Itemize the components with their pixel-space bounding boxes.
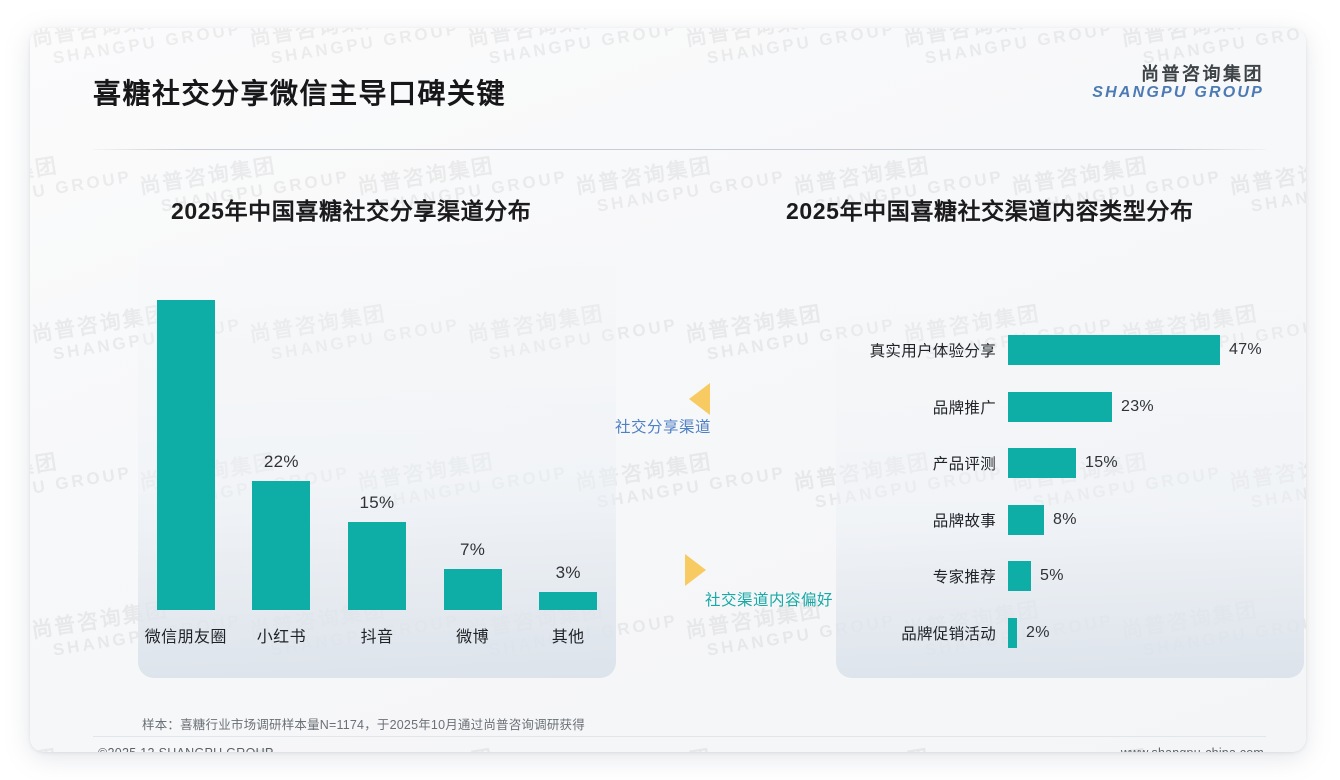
footer-copyright: ©2025.12 SHANGPU GROUP <box>98 746 274 752</box>
horizontal-bar-value-label: 23% <box>1112 398 1154 416</box>
vertical-bar-value-label: 15% <box>360 493 395 513</box>
horizontal-bar <box>1008 335 1220 365</box>
watermark-text: 尚普咨询集团SHANGPU GROUP <box>792 735 1005 752</box>
vertical-bar-series: 53%22%15%7%3% <box>138 268 616 610</box>
vertical-bar <box>348 522 406 610</box>
horizontal-bar-category-label: 专家推荐 <box>836 565 1008 587</box>
vertical-bar <box>539 592 597 610</box>
chart-title-left: 2025年中国喜糖社交分享渠道分布 <box>171 192 531 226</box>
horizontal-bar-value-label: 47% <box>1220 341 1262 359</box>
horizontal-bar-chart: 真实用户体验分享47%品牌推广23%产品评测15%品牌故事8%专家推荐5%品牌促… <box>836 308 1304 678</box>
watermark-text: 尚普咨询集团SHANGPU GROUP <box>356 735 569 752</box>
vertical-bar-chart: 53%22%15%7%3% 微信朋友圈小红书抖音微博其他 <box>138 246 616 678</box>
vertical-bar-category-label: 微信朋友圈 <box>140 623 231 647</box>
chart-title-right: 2025年中国喜糖社交渠道内容类型分布 <box>786 192 1194 226</box>
vertical-bar <box>157 300 215 610</box>
vertical-bar-item: 22% <box>236 268 327 610</box>
vertical-bar-category-label: 微博 <box>427 623 518 647</box>
annotation-label-2: 社交渠道内容偏好 <box>705 588 833 610</box>
footer-divider <box>93 736 1266 737</box>
slide-card: 尚普咨询集团SHANGPU GROUP尚普咨询集团SHANGPU GROUP尚普… <box>30 28 1306 752</box>
horizontal-bar-category-label: 产品评测 <box>836 452 1008 474</box>
annotation-content-preference: 社交渠道内容偏好 <box>685 548 845 610</box>
triangle-left-icon <box>689 383 710 415</box>
sample-footnote: 样本：喜糖行业市场调研样本量N=1174，于2025年10月通过尚普咨询调研获得 <box>142 714 585 733</box>
page-title: 喜糖社交分享微信主导口碑关键 <box>93 72 506 112</box>
watermark-text: 尚普咨询集团SHANGPU GROUP <box>574 735 787 752</box>
horizontal-bar-value-label: 15% <box>1076 454 1118 472</box>
watermark-text: 尚普咨询集团SHANGPU GROUP <box>30 439 133 514</box>
annotation-social-share-channel: 社交分享渠道 <box>615 383 735 445</box>
vertical-bar-item: 15% <box>331 268 422 610</box>
annotation-label-1: 社交分享渠道 <box>615 415 711 437</box>
horizontal-bar-row: 真实用户体验分享47% <box>836 322 1304 379</box>
brand-logo: 尚普咨询集团 SHANGPU GROUP <box>1092 64 1264 102</box>
horizontal-bar-category-label: 品牌故事 <box>836 509 1008 531</box>
vertical-bar-value-label: 7% <box>460 540 485 560</box>
vertical-bar-category-axis: 微信朋友圈小红书抖音微博其他 <box>138 620 616 650</box>
horizontal-bar <box>1008 392 1112 422</box>
vertical-bar-value-label: 3% <box>556 563 581 583</box>
watermark-text: 尚普咨询集团SHANGPU GROUP <box>30 143 133 218</box>
horizontal-bar-value-label: 8% <box>1044 511 1077 529</box>
vertical-bar-category-label: 抖音 <box>331 623 422 647</box>
vertical-bar-item: 7% <box>427 268 518 610</box>
horizontal-bar <box>1008 448 1076 478</box>
horizontal-bar-category-label: 真实用户体验分享 <box>836 339 1008 361</box>
header-divider <box>93 149 1266 150</box>
brand-logo-cn: 尚普咨询集团 <box>1092 64 1264 84</box>
horizontal-bar <box>1008 561 1031 591</box>
vertical-bar <box>252 481 310 610</box>
horizontal-bar-category-label: 品牌推广 <box>836 396 1008 418</box>
vertical-bar-category-label: 其他 <box>523 623 614 647</box>
slide-header: 喜糖社交分享微信主导口碑关键 尚普咨询集团 SHANGPU GROUP <box>30 28 1306 120</box>
triangle-right-icon <box>685 554 706 586</box>
horizontal-bar-value-label: 2% <box>1017 624 1050 642</box>
watermark-text: 尚普咨询集团SHANGPU GROUP <box>574 143 787 218</box>
horizontal-bar-row: 专家推荐5% <box>836 548 1304 605</box>
horizontal-bar <box>1008 618 1017 648</box>
vertical-bar-value-label: 22% <box>264 452 299 472</box>
brand-logo-en: SHANGPU GROUP <box>1092 84 1264 102</box>
horizontal-bar-category-label: 品牌促销活动 <box>836 622 1008 644</box>
horizontal-bar-row: 品牌推广23% <box>836 379 1304 436</box>
footer-website: www.shangpu-china.com <box>1121 746 1264 752</box>
horizontal-bar-row: 品牌故事8% <box>836 492 1304 549</box>
vertical-bar <box>444 569 502 610</box>
horizontal-bar-value-label: 5% <box>1031 567 1064 585</box>
watermark-text: 尚普咨询集团SHANGPU GROUP <box>1228 143 1306 218</box>
horizontal-bar-row: 产品评测15% <box>836 435 1304 492</box>
vertical-bar-item: 53% <box>140 268 231 610</box>
horizontal-bar-row: 品牌促销活动2% <box>836 605 1304 662</box>
horizontal-bar <box>1008 505 1044 535</box>
vertical-bar-category-label: 小红书 <box>236 623 327 647</box>
vertical-bar-item: 3% <box>523 268 614 610</box>
